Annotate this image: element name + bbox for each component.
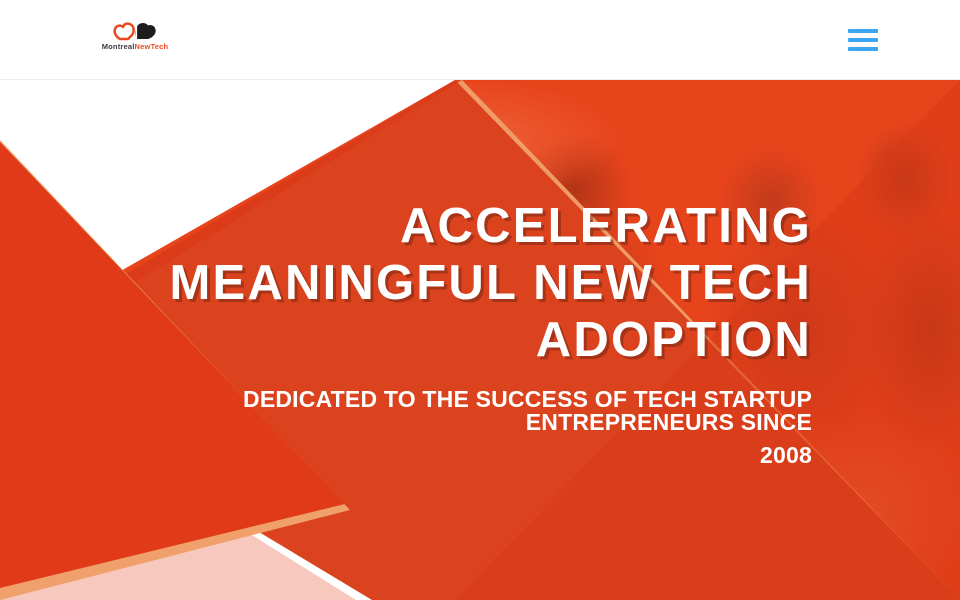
logo-wordmark: MontrealNewTech [102, 43, 169, 51]
site-header: MontrealNewTech [0, 0, 960, 80]
menu-bar-1 [848, 29, 878, 33]
menu-bar-2 [848, 38, 878, 42]
double-heart-cloud-icon [113, 19, 157, 41]
hero-background-graphic [0, 80, 960, 600]
menu-bar-3 [848, 47, 878, 51]
hero-section: ACCELERATING MEANINGFUL NEW TECH ADOPTIO… [0, 80, 960, 600]
site-logo[interactable]: MontrealNewTech [104, 19, 166, 63]
hamburger-menu-icon[interactable] [848, 29, 878, 51]
logo-word-primary: Montreal [102, 42, 135, 51]
logo-word-accent: NewTech [135, 42, 169, 51]
